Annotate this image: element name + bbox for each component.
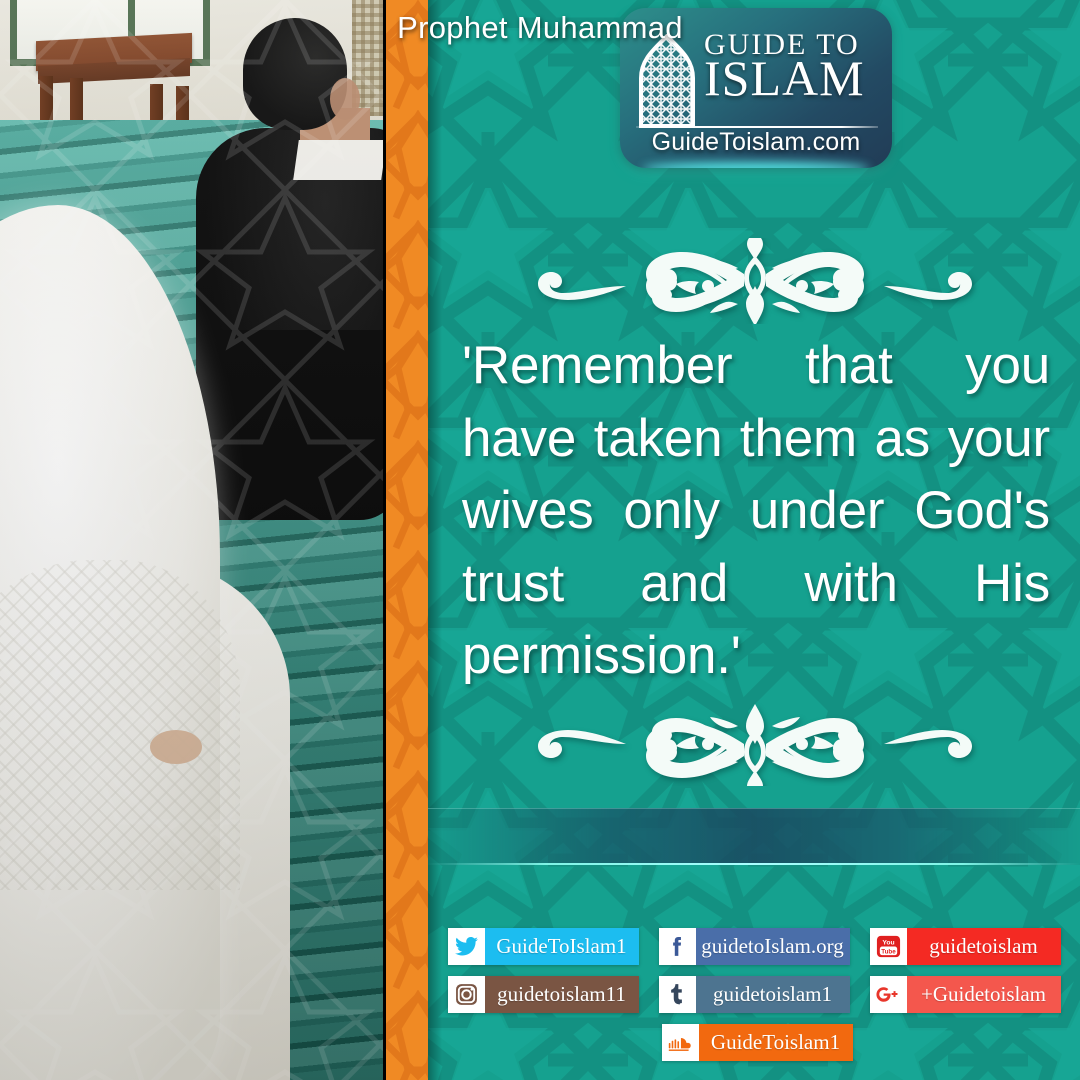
filigree-ornament-top — [466, 238, 1044, 324]
social-chip-soundcloud[interactable]: GuideToislam1 — [662, 1024, 853, 1061]
quote-text: 'Remember that you have taken them as yo… — [462, 330, 1050, 693]
svg-text:Tube: Tube — [881, 948, 896, 955]
social-row-2: guidetoislam11guidetoislam1+Guidetoislam — [448, 976, 1061, 1013]
social-handle-label: guidetoislam1 — [696, 976, 850, 1013]
quote-attribution: Prophet Muhammad — [0, 10, 1080, 46]
panel-left-shadow — [428, 0, 442, 1080]
logo-website-url[interactable]: GuideToislam.com — [620, 128, 892, 157]
social-handle-label: guidetoislam11 — [485, 976, 639, 1013]
social-chip-youtube[interactable]: YouTubeguidetoislam — [870, 928, 1061, 965]
orange-strip-pattern — [386, 0, 428, 1080]
facebook-icon — [659, 928, 696, 965]
social-chip-twitter[interactable]: GuideToIslam1 — [448, 928, 639, 965]
social-row-3: GuideToislam1 — [662, 1024, 853, 1061]
soundcloud-icon — [662, 1024, 699, 1061]
social-row-1: GuideToIslam1guidetoIslam.orgYouTubeguid… — [448, 928, 1061, 965]
social-chip-tumblr[interactable]: guidetoislam1 — [659, 976, 850, 1013]
youtube-icon: YouTube — [870, 928, 907, 965]
poster-canvas: GUIDE TO ISLAM GuideToislam.com — [0, 0, 1080, 1080]
social-handle-label: +Guidetoislam — [907, 976, 1061, 1013]
social-chip-googleplus[interactable]: +Guidetoislam — [870, 976, 1061, 1013]
mosque-arch-icon — [636, 34, 698, 130]
orange-divider-strip — [386, 0, 428, 1080]
logo-title-line2: ISLAM — [704, 55, 865, 101]
social-chip-instagram[interactable]: guidetoislam11 — [448, 976, 639, 1013]
instagram-icon — [448, 976, 485, 1013]
svg-text:You: You — [882, 940, 894, 947]
twitter-icon — [448, 928, 485, 965]
tumblr-icon — [659, 976, 696, 1013]
social-handle-label: GuideToIslam1 — [485, 928, 639, 965]
googleplus-icon — [870, 976, 907, 1013]
wedding-photo — [0, 0, 383, 1080]
social-handle-label: guidetoIslam.org — [696, 928, 850, 965]
social-chip-facebook[interactable]: guidetoIslam.org — [659, 928, 850, 965]
social-links-bar: GuideToIslam1guidetoIslam.orgYouTubeguid… — [428, 928, 1080, 1061]
filigree-ornament-bottom — [466, 700, 1044, 786]
attribution-band — [428, 808, 1080, 865]
social-handle-label: guidetoislam — [907, 928, 1061, 965]
photo-grading — [0, 0, 383, 1080]
social-handle-label: GuideToislam1 — [699, 1024, 853, 1061]
